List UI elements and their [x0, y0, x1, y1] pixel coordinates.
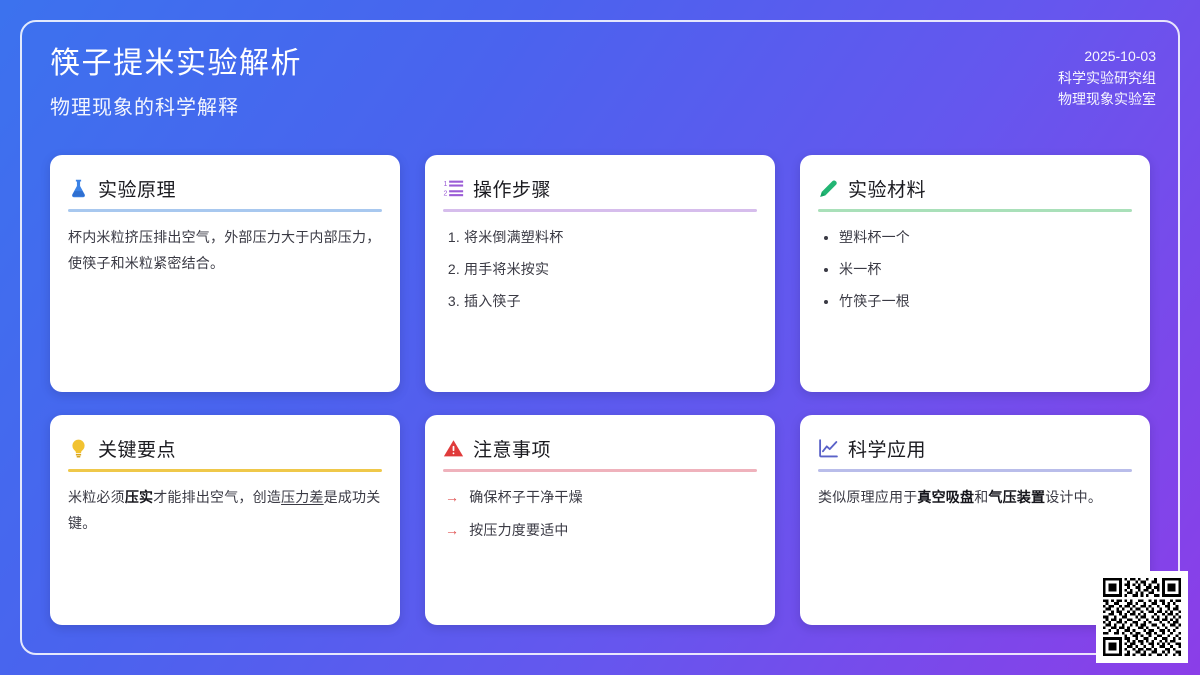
list-item: → 按压力度要适中: [445, 518, 757, 544]
paragraph-part-bold: 气压装置: [988, 489, 1045, 505]
list-item: 用手将米按实: [464, 257, 757, 283]
list-item: 塑料杯一个: [839, 225, 1132, 251]
header-meta: 2025-10-03 科学实验研究组 物理现象实验室: [1058, 42, 1156, 111]
list-item: 将米倒满塑料杯: [464, 225, 757, 251]
card-rule: [818, 209, 1132, 212]
qr-code-image: [1103, 578, 1181, 656]
slide-root: 筷子提米实验解析 物理现象的科学解释 2025-10-03 科学实验研究组 物理…: [0, 0, 1200, 675]
card-header: 注意事项: [443, 435, 757, 469]
card-title: 实验原理: [98, 175, 176, 202]
card-steps: 1 2 操作步骤 将米倒满塑料杯 用手将米按实 插入筷子: [425, 155, 775, 392]
card-paragraph: 米粒必须压实才能排出空气，创造压力差是成功关键。: [68, 485, 382, 537]
card-cautions: 注意事项 → 确保杯子干净干燥 → 按压力度要适中: [425, 415, 775, 625]
card-rule: [443, 469, 757, 472]
cautions-list: → 确保杯子干净干燥 → 按压力度要适中: [443, 485, 757, 544]
list-item: 竹筷子一根: [839, 289, 1132, 315]
card-title: 实验材料: [848, 175, 926, 202]
card-rule: [68, 469, 382, 472]
card-header: 1 2 操作步骤: [443, 175, 757, 209]
materials-list: 塑料杯一个 米一杯 竹筷子一根: [818, 225, 1132, 315]
paragraph-part: 才能排出空气，创造: [153, 489, 281, 505]
svg-text:2: 2: [443, 191, 447, 198]
page-subtitle: 物理现象的科学解释: [50, 96, 302, 120]
lightbulb-icon: [68, 437, 89, 460]
card-paragraph: 杯内米粒挤压排出空气，外部压力大于内部压力，使筷子和米粒紧密结合。: [68, 225, 382, 277]
paragraph-part: 类似原理应用于: [818, 489, 917, 505]
card-header: 实验原理: [68, 175, 382, 209]
qr-code[interactable]: [1096, 571, 1188, 663]
paragraph-part-bold: 真空吸盘: [917, 489, 974, 505]
card-rule: [818, 469, 1132, 472]
card-key-points: 关键要点 米粒必须压实才能排出空气，创造压力差是成功关键。: [50, 415, 400, 625]
flask-icon: [68, 177, 89, 200]
list-item-label: 确保杯子干净干燥: [469, 485, 583, 511]
card-rule: [443, 209, 757, 212]
line-chart-icon: [818, 437, 839, 460]
card-title: 注意事项: [473, 435, 551, 462]
paragraph-part-bold: 压实: [125, 489, 153, 505]
card-header: 科学应用: [818, 435, 1132, 469]
pencil-icon: [818, 177, 839, 200]
paragraph-part: 和: [974, 489, 988, 505]
card-title: 科学应用: [848, 435, 926, 462]
card-grid: 实验原理 杯内米粒挤压排出空气，外部压力大于内部压力，使筷子和米粒紧密结合。 1…: [50, 155, 1150, 625]
steps-list: 将米倒满塑料杯 用手将米按实 插入筷子: [443, 225, 757, 315]
paragraph-part: 设计中。: [1045, 489, 1102, 505]
card-materials: 实验材料 塑料杯一个 米一杯 竹筷子一根: [800, 155, 1150, 392]
warning-triangle-icon: [443, 437, 464, 460]
card-title: 关键要点: [98, 435, 176, 462]
list-item: 米一杯: [839, 257, 1132, 283]
card-header: 实验材料: [818, 175, 1132, 209]
paragraph-part: 杯内米粒挤压排出空气，外部压力大于内部压力，使筷子和米粒紧密结合。: [68, 229, 380, 271]
meta-org: 科学实验研究组: [1058, 68, 1156, 90]
card-rule: [68, 209, 382, 212]
svg-text:1: 1: [443, 181, 447, 188]
arrow-icon: →: [445, 485, 459, 511]
card-header: 关键要点: [68, 435, 382, 469]
paragraph-part-underline: 压力差: [281, 489, 324, 505]
card-principle: 实验原理 杯内米粒挤压排出空气，外部压力大于内部压力，使筷子和米粒紧密结合。: [50, 155, 400, 392]
list-item: → 确保杯子干净干燥: [445, 485, 757, 511]
paragraph-part: 米粒必须: [68, 489, 125, 505]
slide-header: 筷子提米实验解析 物理现象的科学解释 2025-10-03 科学实验研究组 物理…: [50, 42, 1156, 120]
card-paragraph: 类似原理应用于真空吸盘和气压装置设计中。: [818, 485, 1132, 511]
ordered-list-icon: 1 2: [443, 177, 464, 200]
meta-lab: 物理现象实验室: [1058, 89, 1156, 111]
page-title: 筷子提米实验解析: [50, 46, 302, 82]
card-title: 操作步骤: [473, 175, 551, 202]
meta-date: 2025-10-03: [1058, 46, 1156, 68]
title-block: 筷子提米实验解析 物理现象的科学解释: [50, 42, 302, 120]
list-item: 插入筷子: [464, 289, 757, 315]
arrow-icon: →: [445, 518, 459, 544]
list-item-label: 按压力度要适中: [469, 518, 568, 544]
